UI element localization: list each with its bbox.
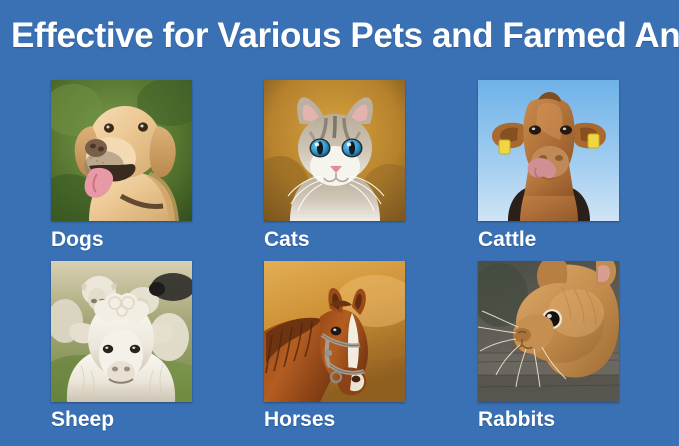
tile-dogs bbox=[51, 80, 192, 221]
dog-photo bbox=[51, 80, 192, 221]
tile-sheep bbox=[51, 261, 192, 402]
tile-label-horses: Horses bbox=[264, 408, 335, 432]
sheep-photo bbox=[51, 261, 192, 402]
tile-label-cats: Cats bbox=[264, 228, 310, 252]
tile-horses bbox=[264, 261, 405, 402]
poster-canvas: Effective for Various Pets and Farmed An… bbox=[0, 0, 679, 446]
tile-cats bbox=[264, 80, 405, 221]
page-title: Effective for Various Pets and Farmed An… bbox=[11, 15, 671, 57]
cat-photo bbox=[264, 80, 405, 221]
tile-label-dogs: Dogs bbox=[51, 228, 104, 252]
rabbit-photo bbox=[478, 261, 619, 402]
tile-cattle bbox=[478, 80, 619, 221]
tile-label-cattle: Cattle bbox=[478, 228, 536, 252]
tile-label-sheep: Sheep bbox=[51, 408, 114, 432]
horse-photo bbox=[264, 261, 405, 402]
tile-rabbits bbox=[478, 261, 619, 402]
cattle-photo bbox=[478, 80, 619, 221]
tile-label-rabbits: Rabbits bbox=[478, 408, 555, 432]
